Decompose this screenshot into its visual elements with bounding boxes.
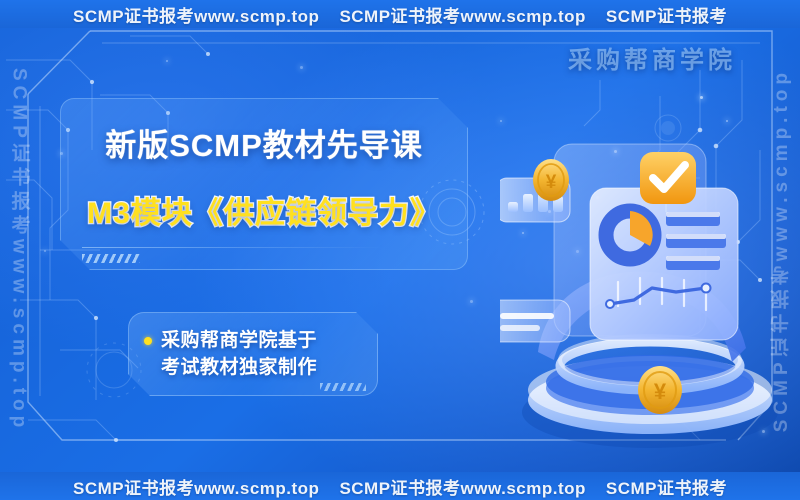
watermark-band-bottom: SCMP证书报考www.scmp.top SCMP证书报考www.scmp.to…	[0, 472, 800, 500]
bullet-row: 采购帮商学院基于 考试教材独家制作	[144, 328, 317, 382]
watermark-left-text: SCMP证书报考www.scmp.top	[6, 68, 33, 432]
hatch-decoration-2	[320, 383, 366, 391]
page-title: 新版SCMP教材先导课	[78, 120, 450, 165]
watermark-top-2: SCMP证书报考www.scmp.top	[339, 2, 585, 27]
watermark-left: SCMP证书报考www.scmp.top	[2, 0, 36, 500]
list-bars	[666, 212, 726, 270]
dashboard-illustration: ¥	[500, 60, 800, 460]
coin-top-illustration: ¥	[528, 155, 574, 205]
check-badge-icon	[640, 152, 696, 212]
svg-text:¥: ¥	[654, 379, 667, 404]
title-panel: 新版SCMP教材先导课 M3模块《供应链领导力》	[60, 98, 468, 270]
panel-divider	[82, 247, 382, 248]
banner-canvas: 采购帮商学院 新版SCMP教材先导课 M3模块《供应链领导力》 采购帮商学院基于…	[0, 0, 800, 500]
bullet-line-1: 采购帮商学院基于	[161, 328, 317, 355]
bullet-text: 采购帮商学院基于 考试教材独家制作	[161, 328, 317, 382]
brand-label: 采购帮商学院	[568, 40, 736, 75]
watermark-bottom-3: SCMP证书报考	[606, 474, 727, 499]
bullet-line-2: 考试教材独家制作	[161, 355, 317, 382]
coin-bottom-icon: ¥	[638, 366, 682, 414]
bullet-dot-icon	[144, 337, 152, 345]
watermark-bottom-2: SCMP证书报考www.scmp.top	[339, 474, 585, 499]
watermark-band-top: SCMP证书报考www.scmp.top SCMP证书报考www.scmp.to…	[0, 0, 800, 28]
page-subtitle: M3模块《供应链领导力》	[78, 188, 450, 232]
bullet-panel: 采购帮商学院基于 考试教材独家制作	[128, 312, 378, 396]
svg-text:¥: ¥	[546, 172, 557, 193]
donut-chart	[606, 211, 654, 259]
watermark-bottom-1: SCMP证书报考www.scmp.top	[73, 474, 319, 499]
text-chip	[500, 300, 570, 342]
watermark-top-3: SCMP证书报考	[606, 2, 727, 27]
watermark-top-1: SCMP证书报考www.scmp.top	[73, 2, 319, 27]
hatch-decoration	[82, 254, 140, 263]
